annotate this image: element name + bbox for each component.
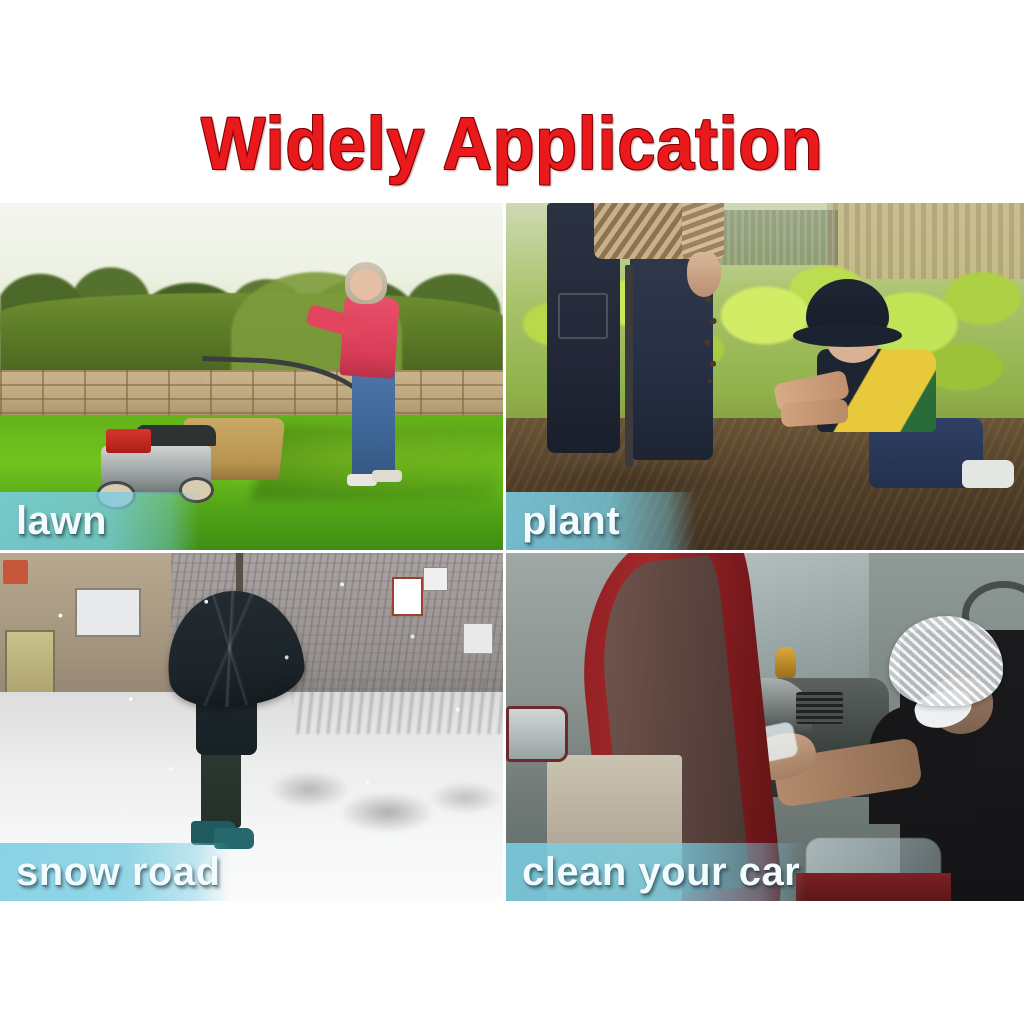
dashboard-ornament xyxy=(775,647,796,678)
gallery-cell-clean-your-car[interactable]: clean your car xyxy=(506,553,1024,901)
application-gallery-grid: lawn xyxy=(0,203,1024,905)
adult-arm xyxy=(682,203,723,259)
door-trim-panel xyxy=(547,755,682,901)
lawn-photo xyxy=(0,203,503,550)
mower-rear-wheel xyxy=(179,477,214,503)
side-mirror xyxy=(506,706,568,762)
garden-tool-handle xyxy=(625,265,633,466)
snow-road-photo xyxy=(0,553,503,901)
seedling-roots xyxy=(698,290,724,387)
page-title: Widely Application xyxy=(201,107,823,181)
falling-snow xyxy=(0,553,503,901)
air-vent-center xyxy=(796,692,843,723)
person-head xyxy=(350,269,383,300)
clean-your-car-photo xyxy=(506,553,1024,901)
mower-engine xyxy=(106,429,151,453)
gallery-cell-snow-road[interactable]: snow road xyxy=(0,553,506,901)
person-legs xyxy=(352,366,395,481)
page-title-area: Widely Application xyxy=(0,104,1024,184)
car-body-sill xyxy=(796,873,951,901)
product-feature-collage: Widely Application xyxy=(0,0,1024,1024)
plant-photo xyxy=(506,203,1024,550)
gallery-cell-plant[interactable]: plant xyxy=(506,203,1024,553)
child-arm-lower xyxy=(780,398,849,427)
gallery-cell-lawn[interactable]: lawn xyxy=(0,203,506,553)
person-shoe-right xyxy=(372,470,402,482)
child-shoe xyxy=(962,460,1014,488)
adult-trouser-pocket xyxy=(558,293,609,339)
child-hat-brim xyxy=(793,324,902,347)
mower-front-wheel xyxy=(96,481,136,510)
person-torso xyxy=(339,295,400,378)
